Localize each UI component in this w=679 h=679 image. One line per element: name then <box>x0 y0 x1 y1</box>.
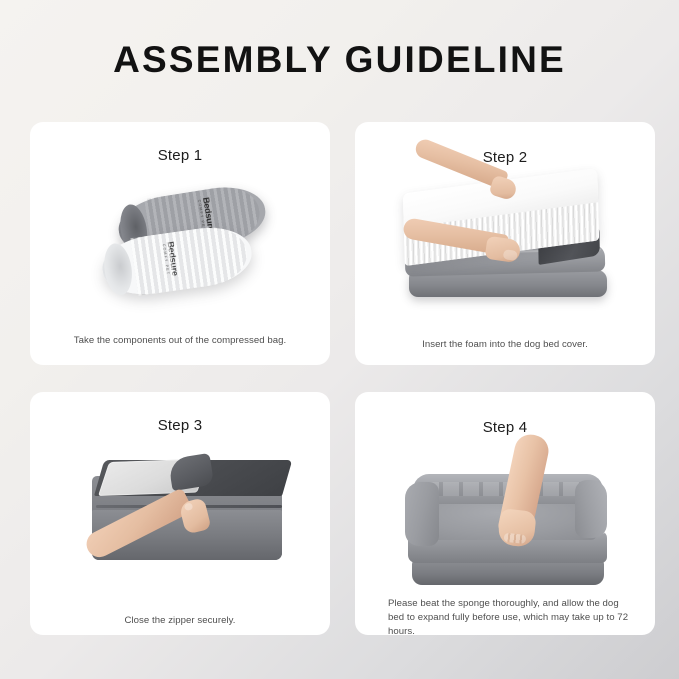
step-1-illustration: Bedsure COMFY PET Bedsure COMFY PET <box>30 122 330 365</box>
brand-label-white-roll: Bedsure COMFY PET <box>162 241 181 277</box>
step-card-3: Step 3 Close the zipper securely. <box>30 392 330 635</box>
assembly-steps-grid: Step 1 Bedsure COMFY PET Bedsure COMFY P… <box>30 122 655 650</box>
step-card-2: Step 2 Insert the foam into the dog bed … <box>355 122 655 365</box>
bolster-right <box>575 480 607 538</box>
step-3-caption: Close the zipper securely. <box>30 614 330 628</box>
brand-tagline: COMFY PET <box>162 242 171 277</box>
step-2-caption: Insert the foam into the dog bed cover. <box>355 338 655 352</box>
step-2-illustration <box>355 122 655 365</box>
step-card-1: Step 1 Bedsure COMFY PET Bedsure COMFY P… <box>30 122 330 365</box>
step-3-illustration <box>30 392 330 635</box>
page-title: ASSEMBLY GUIDELINE <box>0 41 679 78</box>
step-card-4: Step 4 Please beat the sponge thoroughly… <box>355 392 655 635</box>
step-1-caption: Take the components out of the compresse… <box>30 334 330 348</box>
brand-name: Bedsure <box>166 241 181 277</box>
step-4-caption: Please beat the sponge thoroughly, and a… <box>388 597 631 635</box>
bolster-left <box>405 482 439 546</box>
